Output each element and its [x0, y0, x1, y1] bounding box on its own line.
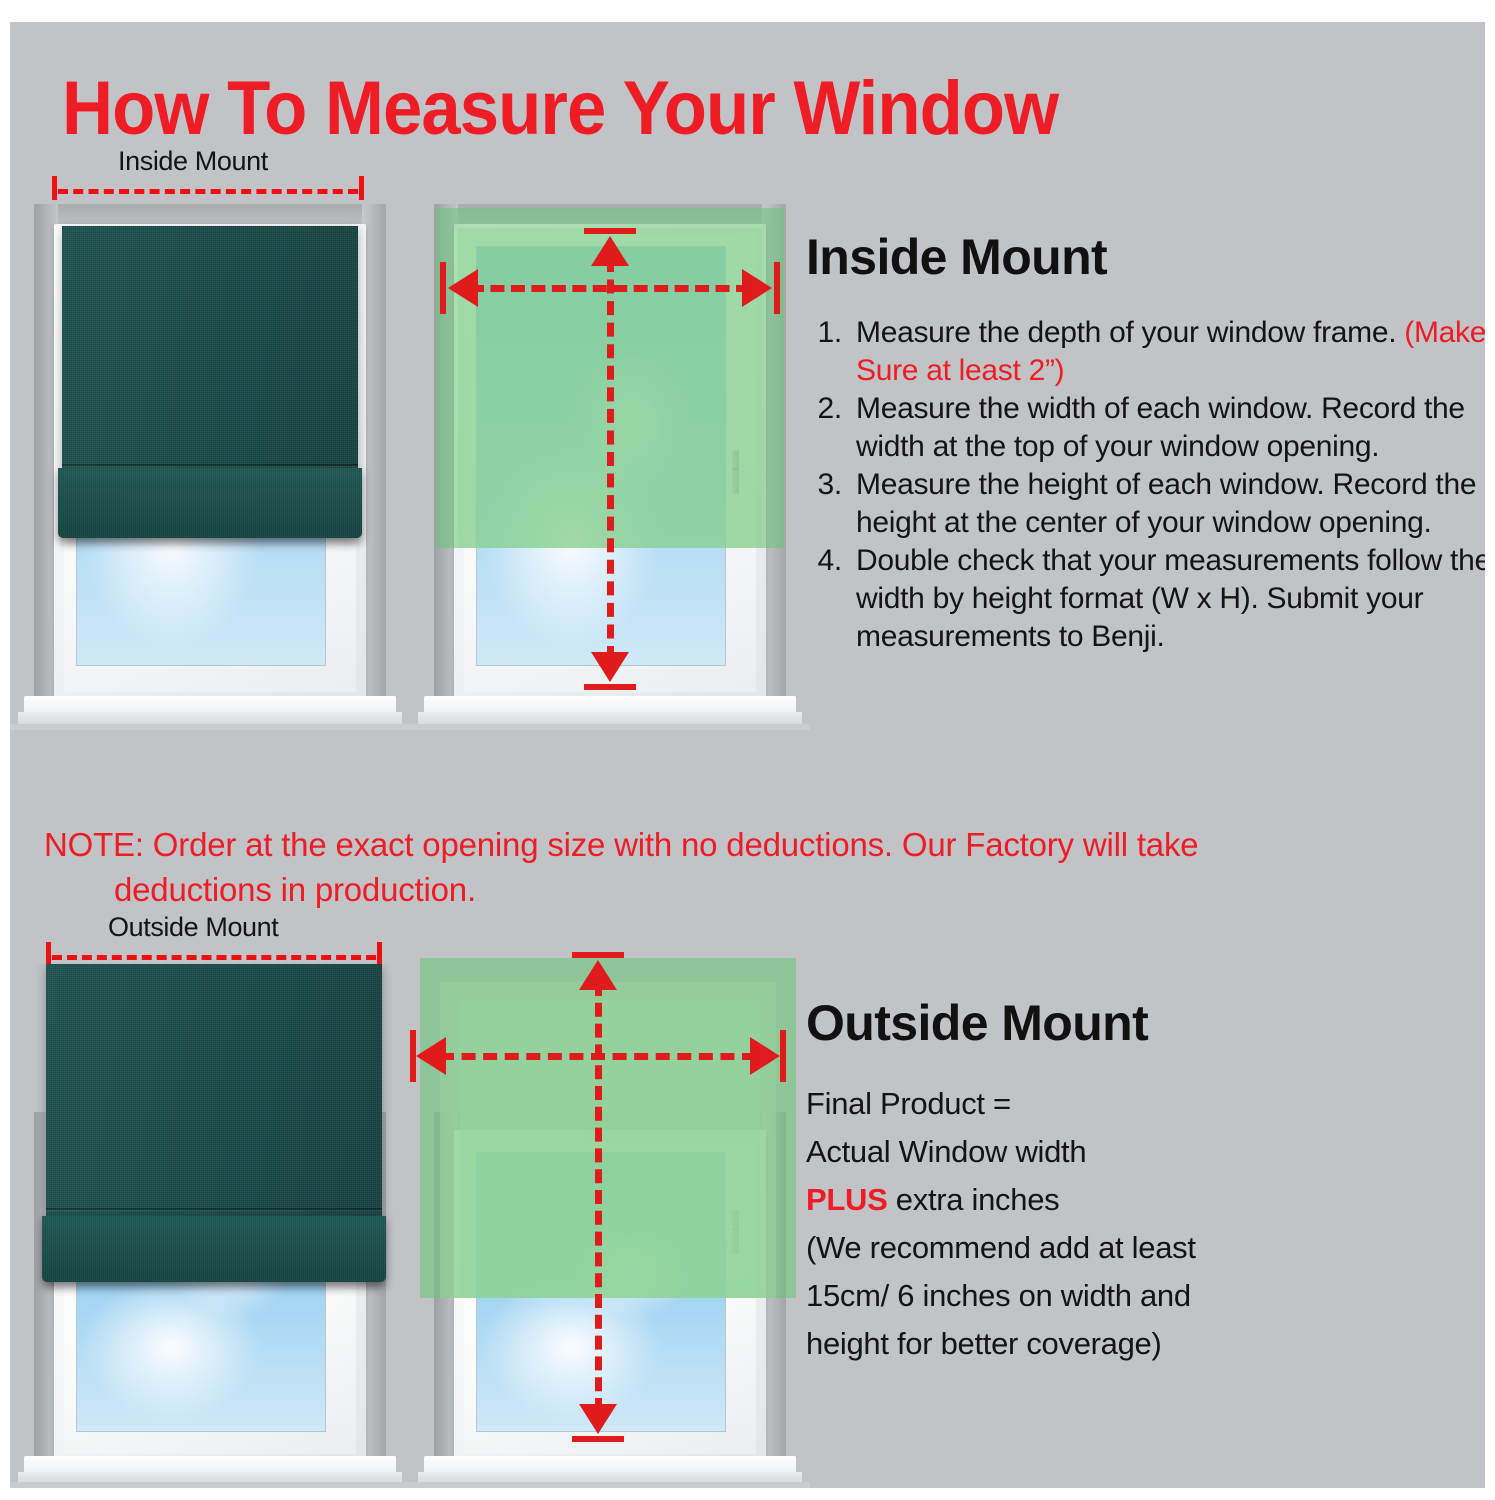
height-endcap-bottom: [572, 1436, 624, 1442]
note-text: NOTE: Order at the exact opening size wi…: [44, 822, 1464, 912]
width-measure-arrow: [410, 1036, 786, 1076]
outside-line-5: 15cm/ 6 inches on width and: [806, 1272, 1426, 1320]
inside-mount-caption: Inside Mount: [118, 146, 268, 177]
width-dash-line: [440, 1053, 756, 1060]
window-sill-edge: [410, 724, 810, 730]
outside-mount-illustration: [10, 964, 410, 1488]
dimension-dashes: [52, 955, 376, 960]
window-reveal-top: [34, 204, 386, 226]
width-endcap-left: [440, 262, 446, 314]
outside-line-6: height for better coverage): [806, 1320, 1426, 1368]
width-dash-line: [470, 285, 750, 292]
step-text: Measure the depth of your window frame.: [856, 316, 1404, 349]
list-item: Measure the height of each window. Recor…: [850, 466, 1485, 542]
inside-mount-illustration: [10, 200, 410, 730]
height-endcap-bottom: [584, 684, 636, 690]
blind-hem: [58, 468, 362, 538]
inside-mount-steps: Measure the depth of your window frame. …: [806, 314, 1485, 656]
height-endcap-top: [572, 952, 624, 958]
arrowhead-down-icon: [591, 652, 629, 682]
window-sill-edge: [10, 724, 410, 730]
width-endcap-left: [410, 1030, 416, 1082]
blind-fold: [62, 464, 358, 466]
arrowhead-down-icon: [579, 1404, 617, 1434]
window-sill-edge: [10, 1482, 410, 1488]
list-item: Measure the depth of your window frame. …: [850, 314, 1485, 390]
step-text: Double check that your measurements foll…: [856, 544, 1485, 653]
inside-mount-measure-illustration: [410, 200, 810, 730]
outside-line-2: Actual Window width: [806, 1128, 1426, 1176]
width-endcap-right: [780, 1030, 786, 1082]
blind-hem: [42, 1216, 386, 1282]
height-measure-arrow: [578, 952, 618, 1442]
roman-blind: [62, 226, 358, 538]
step-text: Measure the height of each window. Recor…: [856, 468, 1476, 539]
arrowhead-right-icon: [742, 269, 772, 307]
window-sill-edge: [410, 1482, 810, 1488]
infographic-page: How To Measure Your Window Inside Mount: [0, 0, 1495, 1500]
plus-emphasis: PLUS: [806, 1182, 887, 1217]
infographic-canvas: How To Measure Your Window Inside Mount: [10, 22, 1485, 1488]
outside-line-3-rest: extra inches: [887, 1182, 1059, 1217]
arrowhead-left-icon: [448, 269, 478, 307]
list-item: Measure the width of each window. Record…: [850, 390, 1485, 466]
inside-mount-heading: Inside Mount: [806, 228, 1107, 286]
arrowhead-up-icon: [591, 236, 629, 266]
outside-line-4: (We recommend add at least: [806, 1224, 1426, 1272]
list-item: Double check that your measurements foll…: [850, 542, 1485, 656]
arrowhead-up-icon: [579, 960, 617, 990]
note-line-2: deductions in production.: [114, 867, 1464, 912]
outside-line-3: PLUS extra inches: [806, 1176, 1426, 1224]
outside-mount-measure-illustration: [410, 942, 810, 1488]
dimension-dashes: [58, 189, 358, 194]
outside-line-1: Final Product =: [806, 1080, 1426, 1128]
height-endcap-top: [584, 228, 636, 234]
page-title: How To Measure Your Window: [62, 68, 1058, 150]
note-line-1: NOTE: Order at the exact opening size wi…: [44, 826, 1198, 863]
outside-mount-description: Final Product = Actual Window width PLUS…: [806, 1080, 1426, 1368]
arrowhead-right-icon: [750, 1037, 780, 1075]
outside-mount-heading: Outside Mount: [806, 994, 1148, 1052]
arrowhead-left-icon: [416, 1037, 446, 1075]
step-text: Measure the width of each window. Record…: [856, 392, 1465, 463]
height-dash-line: [607, 258, 614, 660]
outside-mount-caption: Outside Mount: [108, 912, 278, 943]
roman-blind: [46, 964, 382, 1282]
blind-fold: [46, 1208, 382, 1210]
width-endcap-right: [774, 262, 780, 314]
width-measure-arrow: [440, 268, 780, 308]
